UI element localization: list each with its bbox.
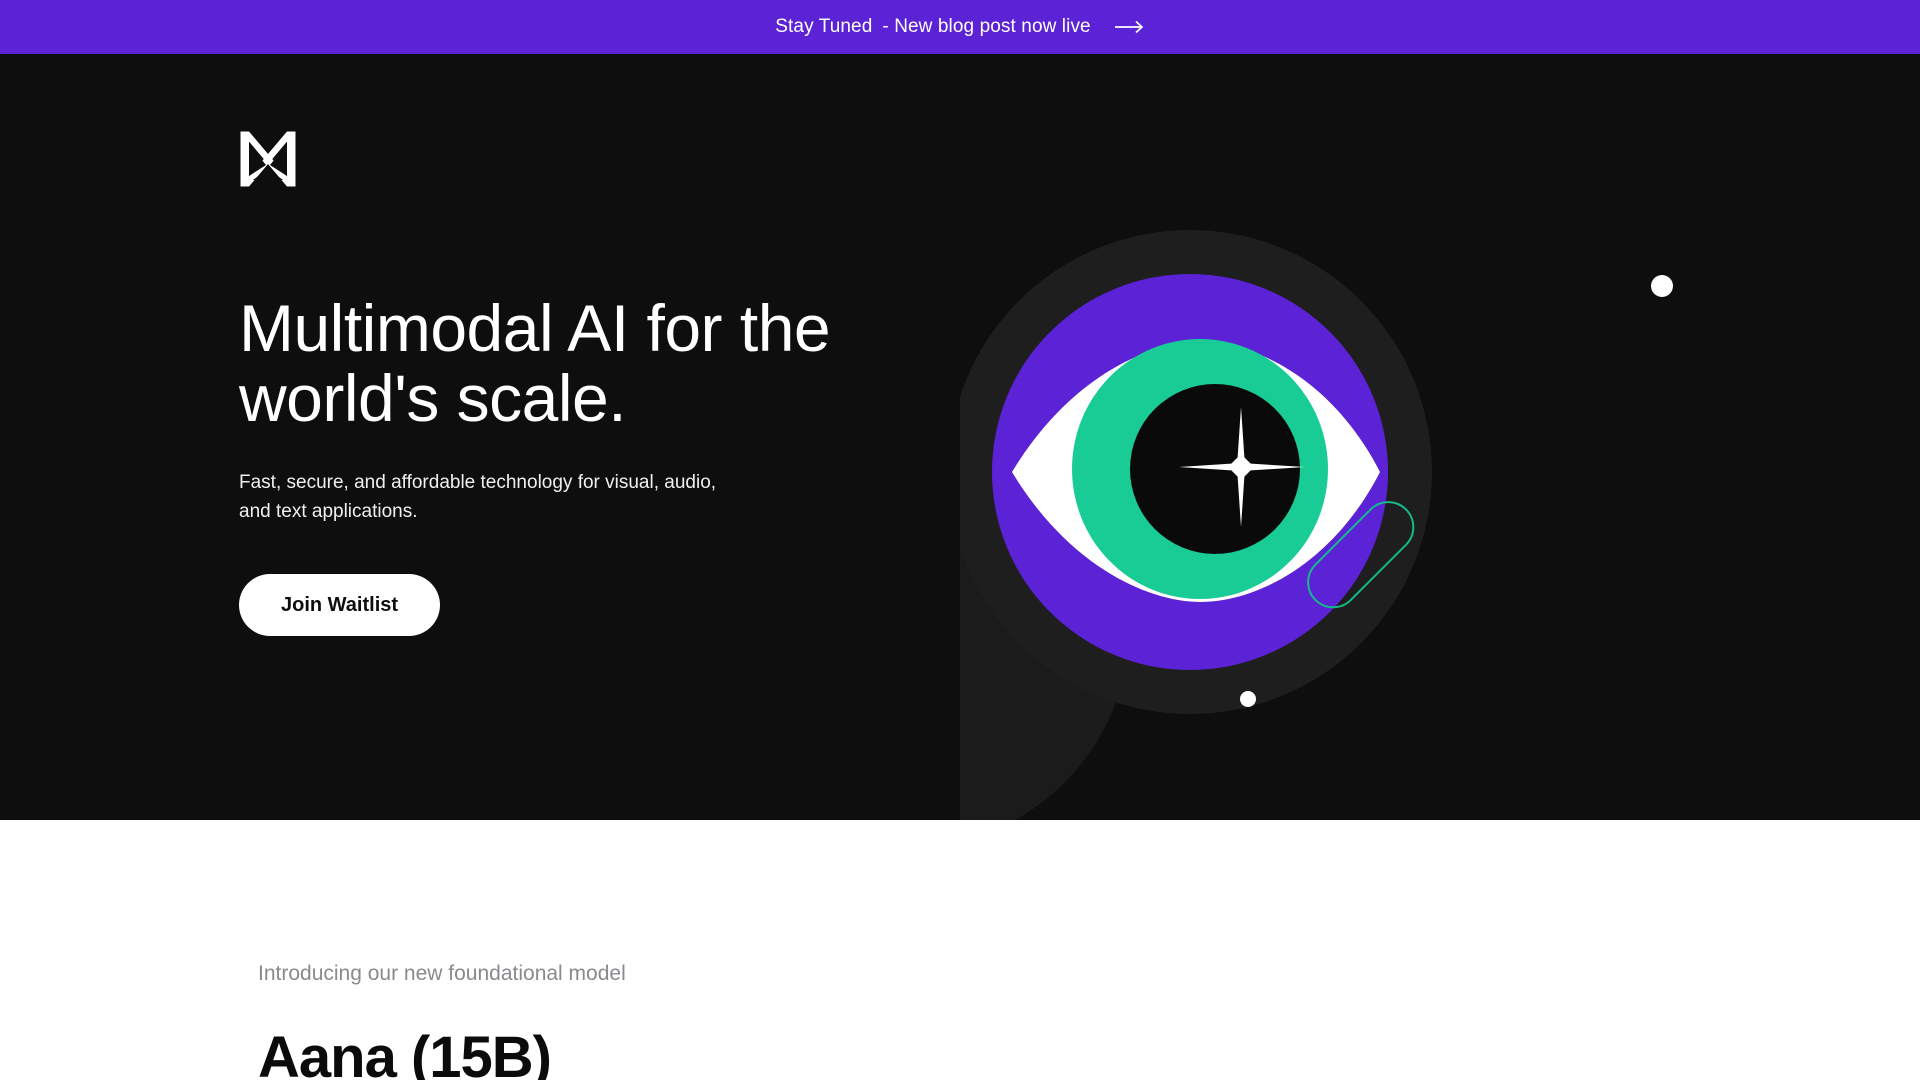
announcement-banner[interactable]: Stay Tuned - New blog post now live [0,0,1920,54]
hero-subheadline: Fast, secure, and affordable technology … [239,468,999,527]
white-dot-icon [1651,275,1673,297]
intro-section: Introducing our new foundational model A… [0,820,1920,1080]
announcement-strong-label: Stay Tuned [775,16,872,38]
join-waitlist-button[interactable]: Join Waitlist [239,574,440,636]
hero-illustration [960,54,1920,820]
intro-eyebrow: Introducing our new foundational model [258,962,626,986]
white-dot-small-icon [1240,691,1256,707]
hero-section: Multimodal AI for the world's scale. Fas… [0,54,1920,820]
hero-copy: Multimodal AI for the world's scale. Fas… [239,294,999,636]
page-title: Multimodal AI for the world's scale. [239,294,999,434]
arrow-right-icon [1115,20,1145,34]
announcement-message: - New blog post now live [882,16,1090,38]
brand-logo-icon[interactable] [239,130,297,188]
model-title: Aana (15B) [258,1024,551,1080]
